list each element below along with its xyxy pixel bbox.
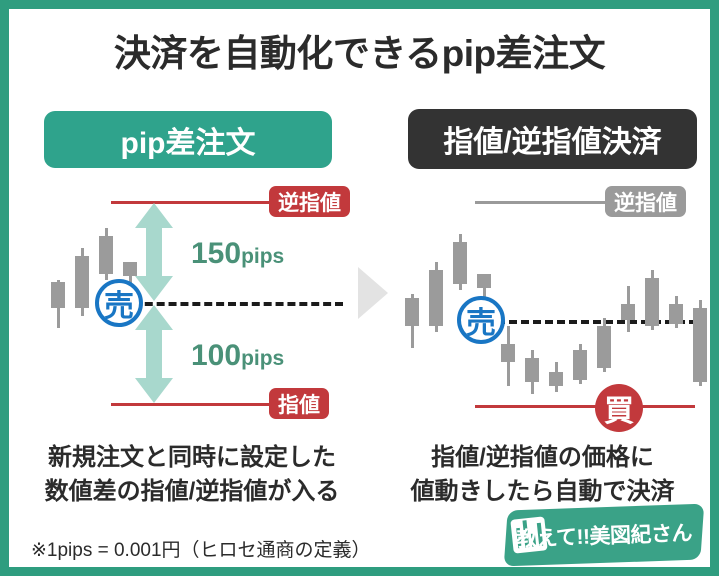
right-sell-marker: 売 <box>457 296 505 344</box>
left-caption: 新規注文と同時に設定した 数値差の指値/逆指値が入る <box>17 441 367 509</box>
lower-pips-label: 100pips <box>191 339 284 373</box>
right-buy-marker: 買 <box>595 384 643 432</box>
candle <box>573 234 587 414</box>
left-sell-marker: 売 <box>95 279 143 327</box>
left-limit-tag: 指値 <box>269 388 329 419</box>
candle <box>693 234 707 414</box>
candle <box>429 234 443 414</box>
right-panel: 逆指値 <box>391 179 716 434</box>
right-caption: 指値/逆指値の価格に 値動きしたら自動で決済 <box>375 441 710 509</box>
page-title: 決済を自動化できるpip差注文 <box>9 23 710 77</box>
pill-limit-stop-settlement: 指値/逆指値決済 <box>408 109 697 169</box>
logo-text: 教えて!!美図紀さん <box>505 504 703 567</box>
left-stop-tag: 逆指値 <box>269 186 350 217</box>
footnote: ※1pips = 0.001円（ヒロセ通商の定義） <box>31 535 371 562</box>
candle <box>525 234 539 414</box>
candle <box>645 234 659 414</box>
upper-pips-label: 150pips <box>191 237 284 271</box>
left-caption-line1: 新規注文と同時に設定した <box>17 441 367 475</box>
left-caption-line2: 数値差の指値/逆指値が入る <box>17 475 367 509</box>
infographic-root: 決済を自動化できるpip差注文 pip差注文 指値/逆指値決済 逆指値 指値 1… <box>0 0 719 576</box>
brand-logo: 教えて!!美図紀さん <box>506 507 702 563</box>
candle <box>75 234 89 394</box>
candle <box>669 234 683 414</box>
infographic-card: 決済を自動化できるpip差注文 pip差注文 指値/逆指値決済 逆指値 指値 1… <box>9 9 710 567</box>
right-caption-line1: 指値/逆指値の価格に <box>375 441 710 475</box>
transition-arrow-icon <box>358 267 388 319</box>
candle <box>405 234 419 414</box>
pill-pip-order: pip差注文 <box>44 111 332 168</box>
left-limit-line <box>111 403 269 406</box>
right-stop-tag: 逆指値 <box>605 186 686 217</box>
candle <box>549 234 563 414</box>
left-panel: 逆指値 指値 150pips 100pips <box>21 179 366 434</box>
right-candlestick-series <box>399 234 709 414</box>
right-stop-line <box>475 201 605 204</box>
candle <box>51 234 65 394</box>
